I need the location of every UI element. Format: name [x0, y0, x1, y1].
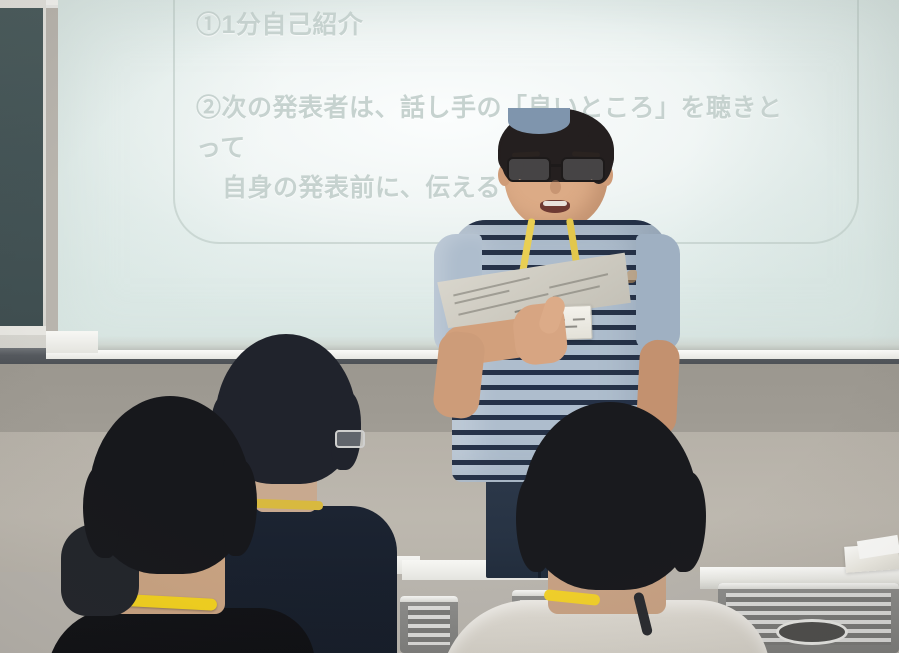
chalkboard-chalk-rail [0, 326, 46, 335]
screen-frame-bottom-left [46, 331, 98, 353]
attendee-front-left-hair [89, 396, 251, 574]
glasses-icon [506, 157, 606, 179]
badge-text-line [573, 318, 585, 320]
slide-line-1: ①1分自己紹介 [196, 8, 796, 42]
glasses-lens-right [561, 157, 605, 182]
presenter-nose [550, 180, 561, 194]
handout-line [553, 285, 600, 298]
chalkboard [0, 8, 43, 330]
presenter-mouth [540, 200, 570, 213]
attendee-front-right-hair [522, 402, 698, 590]
glasses-lens-left [507, 157, 551, 182]
attendee-front-right [440, 402, 800, 653]
classroom-presentation-photo: ①1分自己紹介 ②次の発表者は、話し手の「良いところ」を聴きとって 自身の発表前… [0, 0, 899, 653]
presenter-collar [508, 108, 570, 134]
attendee-front-left [55, 396, 355, 653]
